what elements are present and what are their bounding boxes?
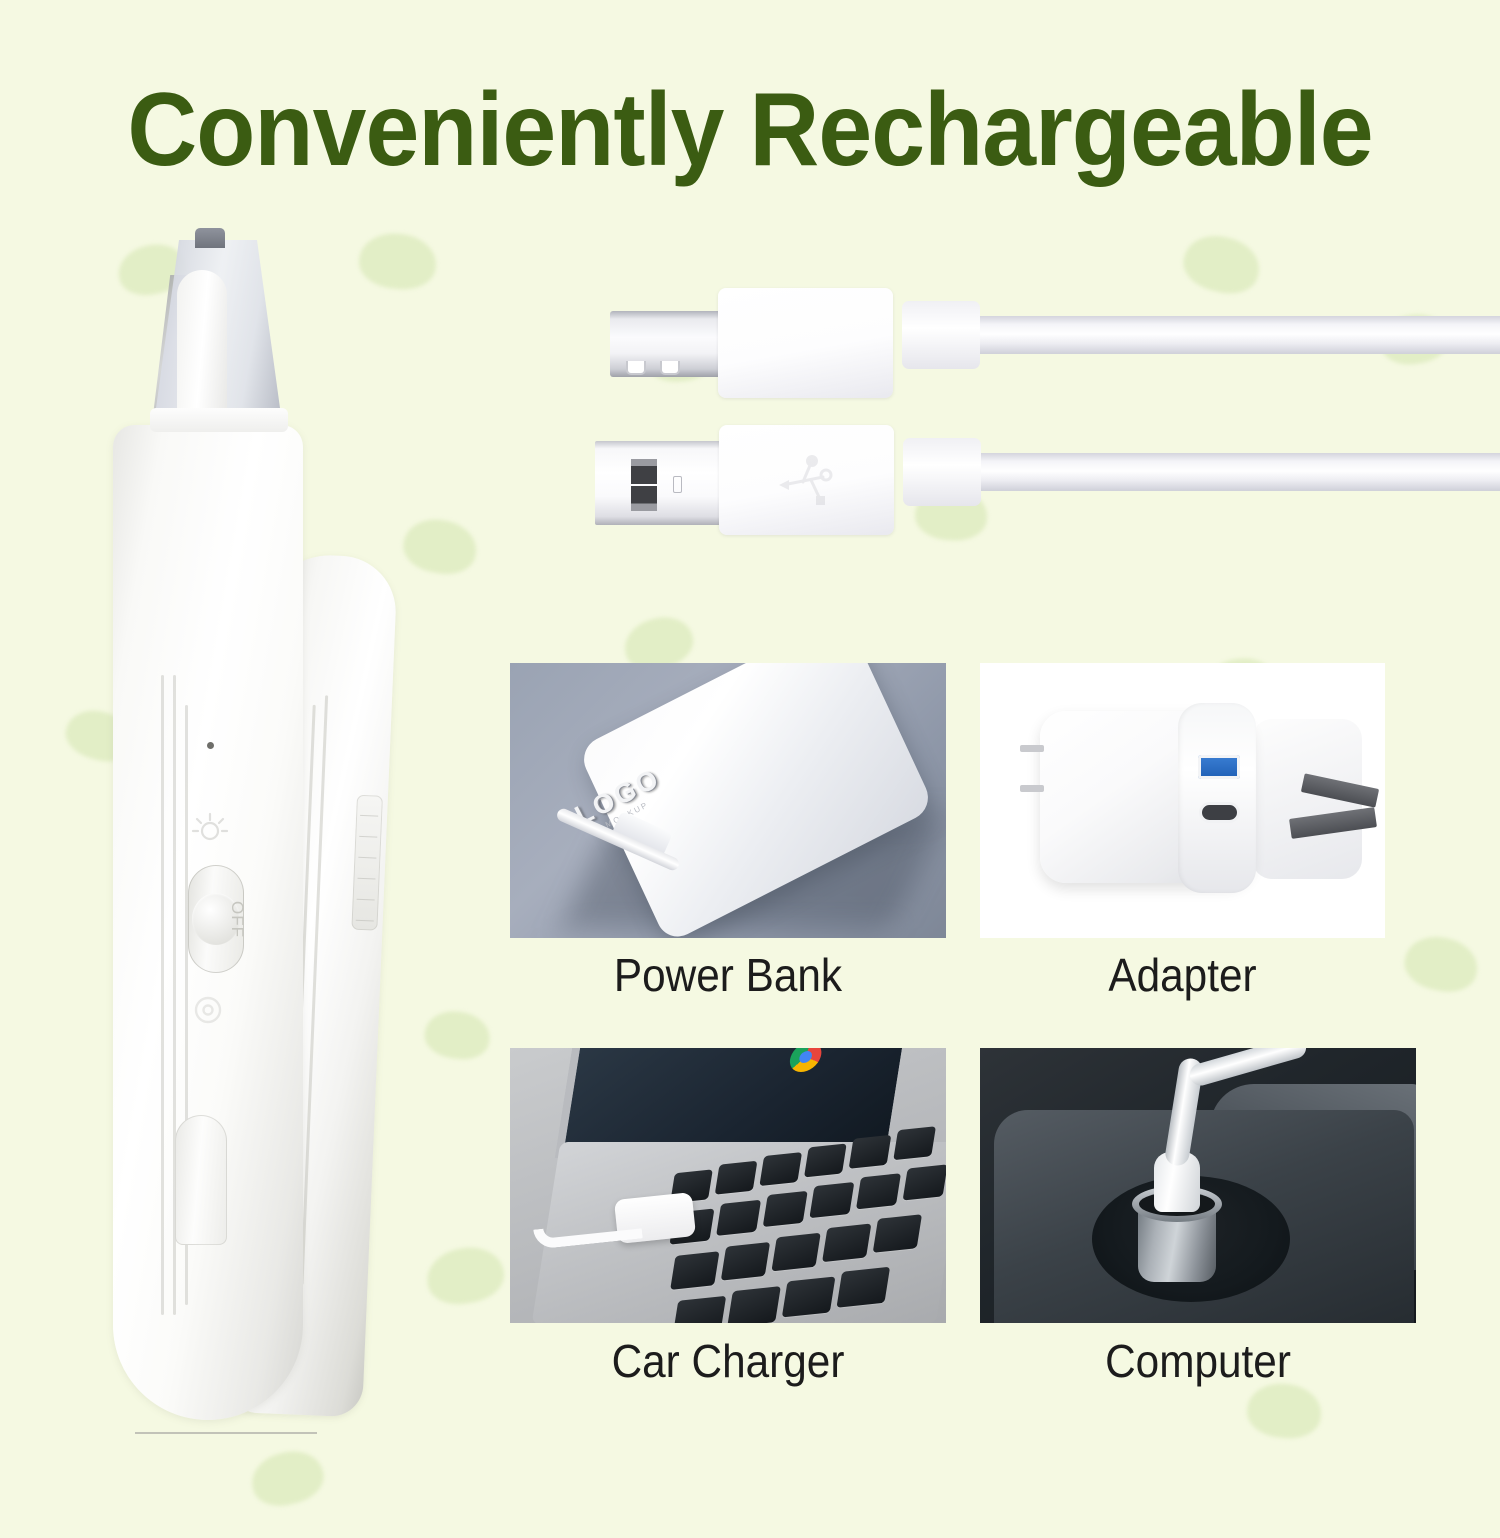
micro-usb-connector-tip [610,311,722,377]
clipper-battery-capsule [175,1115,227,1245]
guard-base-band [150,408,288,432]
usb-trident-icon [777,455,835,507]
usb-a-connector-tip [595,441,723,525]
paw-print-icon [1353,250,1485,377]
charging-option-power-bank: LOGO MOCKUP [510,663,946,938]
clipper-guide [177,270,227,425]
label-car-charger: Car Charger [527,1338,928,1384]
power-bank-photo: LOGO MOCKUP [510,663,946,938]
laptop-photo [510,1048,946,1323]
cable-strain-relief [902,301,980,369]
led-indicator [207,742,214,749]
cable-wire [965,453,1500,491]
product-image-nail-clipper: OFF [95,225,440,1420]
power-icon [191,993,225,1027]
guard-tab [195,228,225,248]
car-socket-photo [980,1048,1416,1323]
handle-grip [351,795,383,931]
adapter-photo [980,663,1385,938]
switch-off-label: OFF [227,901,247,938]
charging-option-adapter [980,663,1385,938]
cable-strain-relief [903,438,981,506]
charging-option-car-charger [510,1048,946,1323]
label-adapter: Adapter [996,952,1369,998]
connector-hood [718,288,893,398]
light-icon [190,810,230,844]
charging-option-computer [980,1048,1416,1323]
connector-hood [719,425,894,535]
label-power-bank: Power Bank [527,952,928,998]
label-computer: Computer [997,1338,1398,1384]
usb-a-port [1198,755,1240,779]
cable-wire [965,316,1500,354]
page-title: Conveniently Rechargeable [53,78,1448,182]
paw-print-icon [1381,868,1500,1012]
usb-c-port [1202,805,1237,820]
